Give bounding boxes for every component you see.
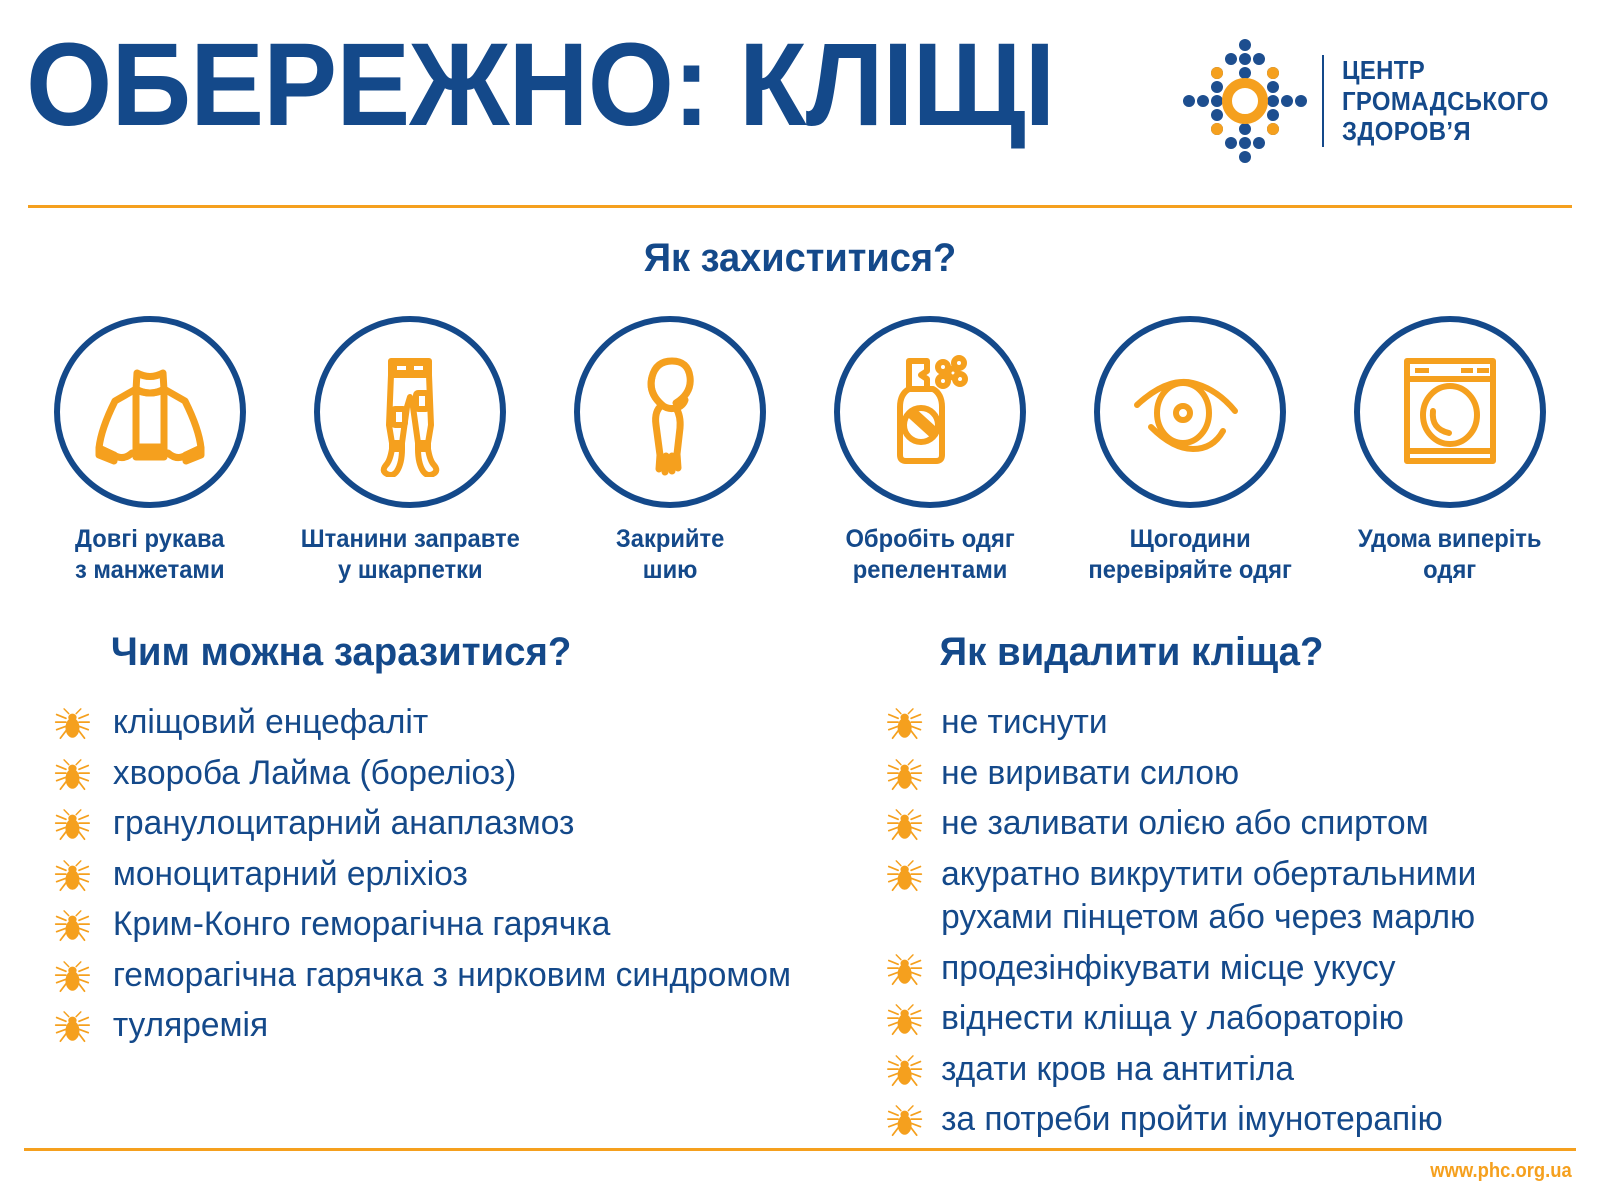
list-item: не заливати олією або спиртом xyxy=(880,802,1570,846)
tick-bullet-icon xyxy=(54,859,91,893)
list-item: туляремія xyxy=(36,1004,844,1048)
removal-list: не тиснутине виривати силоюне заливати о… xyxy=(880,701,1580,1142)
tick-bullet-icon xyxy=(886,1003,923,1037)
icon-circle xyxy=(54,316,246,508)
header-divider xyxy=(28,205,1572,208)
tick-bullet-icon xyxy=(54,909,91,943)
protect-item-caption: Штанини заправтеу шкарпетки xyxy=(300,524,519,585)
eye-icon xyxy=(1125,347,1255,477)
list-item: не тиснути xyxy=(880,701,1570,745)
list-item-label: моноцитарний ерліхіоз xyxy=(113,855,468,893)
tick-bullet-icon xyxy=(886,1054,923,1088)
logo-line-1: ЦЕНТР xyxy=(1342,55,1549,86)
infections-list: кліщовий енцефалітхвороба Лайма (бореліо… xyxy=(36,701,856,1048)
scarf-icon xyxy=(605,347,735,477)
tick-bullet-icon xyxy=(886,758,923,792)
organization-name: ЦЕНТР ГРОМАДСЬКОГО ЗДОРОВ’Я xyxy=(1342,55,1549,147)
list-item: хвороба Лайма (бореліоз) xyxy=(36,752,844,796)
infographic-page: ОБЕРЕЖНО: КЛІЩІ xyxy=(0,0,1600,1200)
list-item-label: туляремія xyxy=(113,1006,268,1044)
logo-divider xyxy=(1322,55,1324,147)
icon-circle xyxy=(1094,316,1286,508)
protect-item-repellent: Обробіть одягрепелентами xyxy=(804,316,1056,585)
protect-item-caption: Щогодиниперевіряйте одяг xyxy=(1088,524,1292,585)
tick-bullet-icon xyxy=(886,953,923,987)
list-item: геморагічна гарячка з нирковим синдромом xyxy=(36,954,844,998)
list-item-label: акуратно викрутити обертальними рухами п… xyxy=(941,855,1476,937)
protect-item-inspect: Щогодиниперевіряйте одяг xyxy=(1064,316,1316,585)
logo-line-3: ЗДОРОВ’Я xyxy=(1342,116,1549,147)
infections-section: Чим можна заразитися? кліщовий енцефаліт… xyxy=(36,630,856,1055)
tick-bullet-icon xyxy=(54,960,91,994)
sweater-icon xyxy=(85,347,215,477)
footer-website-url[interactable]: www.phc.org.ua xyxy=(1431,1160,1572,1183)
tick-bullet-icon xyxy=(886,1104,923,1138)
list-item: не виривати силою xyxy=(880,752,1570,796)
protect-item-scarf: Закрийтешию xyxy=(544,316,796,585)
washing-machine-icon xyxy=(1385,347,1515,477)
list-item-label: не тиснути xyxy=(941,703,1108,741)
list-item: здати кров на антитіла xyxy=(880,1048,1570,1092)
tick-bullet-icon xyxy=(54,758,91,792)
removal-section: Як видалити кліща? не тиснутине виривати… xyxy=(880,630,1580,1149)
protect-icon-row: Довгі рукаваз манжетами xyxy=(24,316,1576,596)
removal-section-title: Як видалити кліща? xyxy=(880,630,1552,675)
protect-item-caption: Закрийтешию xyxy=(616,524,725,585)
tick-bullet-icon xyxy=(886,707,923,741)
tick-bullet-icon xyxy=(54,808,91,842)
icon-circle xyxy=(834,316,1026,508)
list-item: продезінфікувати місце укусу xyxy=(880,947,1570,991)
tick-bullet-icon xyxy=(54,1010,91,1044)
icon-circle xyxy=(314,316,506,508)
list-item: моноцитарний ерліхіоз xyxy=(36,853,844,897)
list-item-label: не заливати олією або спиртом xyxy=(941,804,1429,842)
protect-section-title: Як захиститися? xyxy=(40,236,1560,281)
tick-bullet-icon xyxy=(54,707,91,741)
icon-circle xyxy=(574,316,766,508)
list-item-label: віднести кліща у лабораторію xyxy=(941,999,1404,1037)
list-item: за потреби пройти імунотерапію xyxy=(880,1098,1570,1142)
page-title: ОБЕРЕЖНО: КЛІЩІ xyxy=(26,26,1054,144)
list-item-label: продезінфікувати місце укусу xyxy=(941,949,1395,987)
logo-line-2: ГРОМАДСЬКОГО xyxy=(1342,86,1549,117)
list-item-label: здати кров на антитіла xyxy=(941,1050,1294,1088)
list-item: акуратно викрутити обертальними рухами п… xyxy=(880,853,1570,940)
infections-section-title: Чим можна заразитися? xyxy=(36,630,823,675)
pants-socks-icon xyxy=(345,347,475,477)
tick-bullet-icon xyxy=(886,859,923,893)
footer-divider xyxy=(24,1148,1576,1151)
protect-item-caption: Довгі рукаваз манжетами xyxy=(75,524,225,585)
list-item-label: хвороба Лайма (бореліоз) xyxy=(113,754,516,792)
list-item: кліщовий енцефаліт xyxy=(36,701,844,745)
protect-item-caption: Обробіть одягрепелентами xyxy=(845,524,1014,585)
icon-circle xyxy=(1354,316,1546,508)
list-item: гранулоцитарний анаплазмоз xyxy=(36,802,844,846)
protect-item-caption: Удома виперітьодяг xyxy=(1358,524,1542,585)
list-item-label: гранулоцитарний анаплазмоз xyxy=(113,804,574,842)
repellent-spray-icon xyxy=(865,347,995,477)
list-item-label: не виривати силою xyxy=(941,754,1239,792)
list-item-label: кліщовий енцефаліт xyxy=(113,703,428,741)
protect-item-wash: Удома виперітьодяг xyxy=(1324,316,1576,585)
list-item-label: геморагічна гарячка з нирковим синдромом xyxy=(113,956,791,994)
tick-bullet-icon xyxy=(886,808,923,842)
protect-item-pants: Штанини заправтеу шкарпетки xyxy=(284,316,536,585)
list-item-label: Крим-Конго геморагічна гарячка xyxy=(113,905,611,943)
header: ОБЕРЕЖНО: КЛІЩІ xyxy=(0,0,1600,200)
organization-logo: ЦЕНТР ГРОМАДСЬКОГО ЗДОРОВ’Я xyxy=(1180,36,1580,166)
list-item: віднести кліща у лабораторію xyxy=(880,997,1570,1041)
list-item: Крим-Конго геморагічна гарячка xyxy=(36,903,844,947)
phc-dot-diamond-logo xyxy=(1180,36,1310,166)
list-item-label: за потреби пройти імунотерапію xyxy=(941,1100,1443,1138)
protect-item-sweater: Довгі рукаваз манжетами xyxy=(24,316,276,585)
